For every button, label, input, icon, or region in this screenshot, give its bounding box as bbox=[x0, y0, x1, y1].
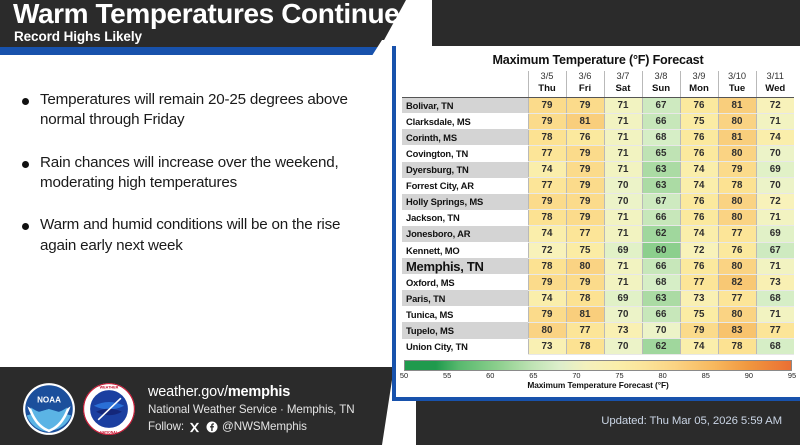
temp-cell: 70 bbox=[604, 178, 642, 194]
weather-graphic: Warm Temperatures Continue Record Highs … bbox=[0, 0, 800, 445]
column-day-4: Mon bbox=[680, 83, 718, 97]
city-label: Dyersburg, TN bbox=[402, 162, 528, 178]
temp-cell: 76 bbox=[718, 242, 756, 258]
updated-timestamp: Updated: Thu Mar 05, 2026 5:59 AM bbox=[601, 415, 782, 427]
column-date-2: 3/7 bbox=[604, 71, 642, 83]
temp-cell: 76 bbox=[680, 258, 718, 274]
temp-cell: 73 bbox=[680, 290, 718, 306]
svg-text:WEATHER: WEATHER bbox=[100, 385, 119, 389]
header-city-blank bbox=[402, 71, 528, 83]
column-day-3: Sun bbox=[642, 83, 680, 97]
temp-cell: 75 bbox=[680, 113, 718, 129]
temp-cell: 78 bbox=[566, 290, 604, 306]
temp-cell: 79 bbox=[718, 162, 756, 178]
temp-cell: 71 bbox=[604, 162, 642, 178]
temp-cell: 70 bbox=[756, 145, 794, 161]
table-header-days: ThuFriSatSunMonTueWed bbox=[402, 83, 794, 97]
temp-cell: 78 bbox=[718, 178, 756, 194]
table-row: Forrest City, AR77797063747870 bbox=[402, 178, 794, 194]
temp-cell: 74 bbox=[528, 162, 566, 178]
temp-cell: 76 bbox=[680, 194, 718, 210]
table-row: Tupelo, MS80777370798377 bbox=[402, 322, 794, 338]
bullet-text: Warm and humid conditions will be on the… bbox=[40, 215, 370, 256]
temp-cell: 72 bbox=[680, 242, 718, 258]
contact-block: weather.gov/memphis National Weather Ser… bbox=[148, 383, 354, 436]
website-url-office: memphis bbox=[228, 384, 290, 400]
temp-cell: 67 bbox=[642, 194, 680, 210]
temp-cell: 63 bbox=[642, 178, 680, 194]
temp-cell: 79 bbox=[566, 274, 604, 290]
table-row: Covington, TN77797165768070 bbox=[402, 145, 794, 161]
temp-cell: 72 bbox=[756, 194, 794, 210]
temp-cell: 71 bbox=[604, 145, 642, 161]
table-row: Clarksdale, MS79817166758071 bbox=[402, 113, 794, 129]
temp-cell: 79 bbox=[528, 97, 566, 113]
temp-cell: 80 bbox=[718, 306, 756, 322]
temp-cell: 70 bbox=[756, 178, 794, 194]
facebook-icon[interactable] bbox=[205, 421, 218, 434]
column-date-3: 3/8 bbox=[642, 71, 680, 83]
temp-cell: 73 bbox=[528, 339, 566, 355]
temp-cell: 75 bbox=[680, 306, 718, 322]
temp-cell: 77 bbox=[718, 226, 756, 242]
temp-cell: 77 bbox=[756, 322, 794, 338]
temp-cell: 76 bbox=[680, 210, 718, 226]
temp-cell: 66 bbox=[642, 210, 680, 226]
temp-cell: 70 bbox=[642, 322, 680, 338]
temp-cell: 62 bbox=[642, 339, 680, 355]
table-header-dates: 3/53/63/73/83/93/103/11 bbox=[402, 71, 794, 83]
header-city-blank2 bbox=[402, 83, 528, 97]
city-label: Jackson, TN bbox=[402, 210, 528, 226]
forecast-table: 3/53/63/73/83/93/103/11 ThuFriSatSunMonT… bbox=[402, 71, 794, 355]
list-item: Warm and humid conditions will be on the… bbox=[22, 215, 370, 256]
table-row: Kennett, MO72756960727667 bbox=[402, 242, 794, 258]
table-title: Maximum Temperature (°F) Forecast bbox=[402, 50, 794, 71]
temp-cell: 80 bbox=[718, 145, 756, 161]
colorbar-label: Maximum Temperature Forecast (°F) bbox=[404, 380, 792, 390]
page-title: Warm Temperatures Continue bbox=[13, 0, 399, 30]
city-label: Corinth, MS bbox=[402, 129, 528, 145]
temp-cell: 63 bbox=[642, 162, 680, 178]
temp-cell: 79 bbox=[566, 162, 604, 178]
temp-cell: 71 bbox=[604, 113, 642, 129]
temp-cell: 71 bbox=[756, 210, 794, 226]
temp-cell: 80 bbox=[718, 258, 756, 274]
bullet-dot-icon bbox=[22, 223, 29, 230]
column-day-6: Wed bbox=[756, 83, 794, 97]
city-label: Union City, TN bbox=[402, 339, 528, 355]
column-date-1: 3/6 bbox=[566, 71, 604, 83]
colorbar-tick: 65 bbox=[529, 371, 537, 380]
temp-cell: 80 bbox=[528, 322, 566, 338]
temp-cell: 67 bbox=[756, 242, 794, 258]
temp-cell: 71 bbox=[604, 97, 642, 113]
temp-cell: 81 bbox=[566, 306, 604, 322]
bullet-dot-icon bbox=[22, 98, 29, 105]
temp-cell: 72 bbox=[528, 242, 566, 258]
temp-cell: 78 bbox=[528, 129, 566, 145]
temp-cell: 76 bbox=[680, 97, 718, 113]
temp-cell: 74 bbox=[680, 162, 718, 178]
colorbar-tick: 55 bbox=[443, 371, 451, 380]
city-label: Tupelo, MS bbox=[402, 322, 528, 338]
bullet-text: Rain chances will increase over the week… bbox=[40, 153, 370, 194]
table-row: Dyersburg, TN74797163747969 bbox=[402, 162, 794, 178]
temp-cell: 74 bbox=[680, 339, 718, 355]
temp-cell: 71 bbox=[604, 129, 642, 145]
temp-cell: 66 bbox=[642, 113, 680, 129]
column-day-0: Thu bbox=[528, 83, 566, 97]
temp-cell: 79 bbox=[528, 306, 566, 322]
city-label: Jonesboro, AR bbox=[402, 226, 528, 242]
table-row: Memphis, TN78807166768071 bbox=[402, 258, 794, 274]
temp-cell: 76 bbox=[680, 145, 718, 161]
temp-cell: 78 bbox=[566, 339, 604, 355]
colorbar: 50556065707580859095 Maximum Temperature… bbox=[402, 355, 794, 390]
temp-cell: 71 bbox=[604, 274, 642, 290]
temp-cell: 68 bbox=[642, 129, 680, 145]
temp-cell: 68 bbox=[756, 290, 794, 306]
temp-cell: 76 bbox=[680, 129, 718, 145]
city-label: Tunica, MS bbox=[402, 306, 528, 322]
twitter-x-icon[interactable] bbox=[188, 421, 201, 434]
temp-cell: 60 bbox=[642, 242, 680, 258]
temp-cell: 80 bbox=[718, 210, 756, 226]
temp-cell: 79 bbox=[528, 194, 566, 210]
column-date-4: 3/9 bbox=[680, 71, 718, 83]
temp-cell: 75 bbox=[566, 242, 604, 258]
temp-cell: 74 bbox=[528, 226, 566, 242]
temp-cell: 74 bbox=[528, 290, 566, 306]
temp-cell: 82 bbox=[718, 274, 756, 290]
temp-cell: 79 bbox=[566, 194, 604, 210]
temp-cell: 71 bbox=[604, 210, 642, 226]
temp-cell: 68 bbox=[756, 339, 794, 355]
colorbar-tick: 70 bbox=[572, 371, 580, 380]
temp-cell: 79 bbox=[566, 145, 604, 161]
temp-cell: 69 bbox=[756, 226, 794, 242]
city-label: Oxford, MS bbox=[402, 274, 528, 290]
temp-cell: 71 bbox=[604, 226, 642, 242]
temp-cell: 70 bbox=[604, 339, 642, 355]
temp-cell: 69 bbox=[604, 290, 642, 306]
noaa-logo-icon: NOAA bbox=[22, 382, 76, 436]
colorbar-tick: 85 bbox=[702, 371, 710, 380]
list-item: Rain chances will increase over the week… bbox=[22, 153, 370, 194]
column-day-2: Sat bbox=[604, 83, 642, 97]
table-body: Bolivar, TN79797167768172Clarksdale, MS7… bbox=[402, 97, 794, 355]
colorbar-ticks: 50556065707580859095 bbox=[404, 371, 792, 381]
city-label: Bolivar, TN bbox=[402, 97, 528, 113]
temp-cell: 78 bbox=[718, 339, 756, 355]
temp-cell: 70 bbox=[604, 306, 642, 322]
temp-cell: 81 bbox=[566, 113, 604, 129]
temp-cell: 83 bbox=[718, 322, 756, 338]
city-label: Kennett, MO bbox=[402, 242, 528, 258]
city-label: Paris, TN bbox=[402, 290, 528, 306]
temp-cell: 79 bbox=[566, 210, 604, 226]
bullet-list: Temperatures will remain 20-25 degrees a… bbox=[0, 62, 386, 367]
city-label: Clarksdale, MS bbox=[402, 113, 528, 129]
temp-cell: 81 bbox=[718, 129, 756, 145]
table-row: Bolivar, TN79797167768172 bbox=[402, 97, 794, 113]
temp-cell: 79 bbox=[566, 97, 604, 113]
temp-cell: 66 bbox=[642, 306, 680, 322]
column-day-1: Fri bbox=[566, 83, 604, 97]
colorbar-tick: 95 bbox=[788, 371, 796, 380]
social-handle: @NWSMemphis bbox=[222, 418, 307, 435]
temp-cell: 77 bbox=[566, 322, 604, 338]
temp-cell: 71 bbox=[756, 113, 794, 129]
temp-cell: 73 bbox=[756, 274, 794, 290]
temp-cell: 65 bbox=[642, 145, 680, 161]
temp-cell: 74 bbox=[680, 178, 718, 194]
city-label: Memphis, TN bbox=[402, 258, 528, 274]
temp-cell: 66 bbox=[642, 258, 680, 274]
table-row: Jackson, TN78797166768071 bbox=[402, 210, 794, 226]
temp-cell: 79 bbox=[680, 322, 718, 338]
colorbar-tick: 75 bbox=[615, 371, 623, 380]
temp-cell: 81 bbox=[718, 97, 756, 113]
temp-cell: 74 bbox=[680, 226, 718, 242]
website-url-base: weather.gov/ bbox=[148, 384, 228, 400]
page-subtitle: Record Highs Likely bbox=[14, 29, 142, 44]
column-date-6: 3/11 bbox=[756, 71, 794, 83]
temp-cell: 77 bbox=[718, 290, 756, 306]
temp-cell: 63 bbox=[642, 290, 680, 306]
temp-cell: 71 bbox=[604, 258, 642, 274]
table-row: Union City, TN73787062747868 bbox=[402, 339, 794, 355]
temp-cell: 80 bbox=[566, 258, 604, 274]
list-item: Temperatures will remain 20-25 degrees a… bbox=[22, 90, 370, 131]
bullet-text: Temperatures will remain 20-25 degrees a… bbox=[40, 90, 370, 131]
city-label: Forrest City, AR bbox=[402, 178, 528, 194]
follow-row: Follow: @NWSMemphis bbox=[148, 418, 354, 435]
bullet-dot-icon bbox=[22, 161, 29, 168]
temp-cell: 79 bbox=[528, 274, 566, 290]
temp-cell: 62 bbox=[642, 226, 680, 242]
temp-cell: 77 bbox=[680, 274, 718, 290]
table-row: Jonesboro, AR74777162747769 bbox=[402, 226, 794, 242]
column-day-5: Tue bbox=[718, 83, 756, 97]
temp-cell: 80 bbox=[718, 194, 756, 210]
nws-logo-icon: WEATHER NATIONAL bbox=[82, 382, 136, 436]
column-date-0: 3/5 bbox=[528, 71, 566, 83]
city-label: Holly Springs, MS bbox=[402, 194, 528, 210]
temp-cell: 78 bbox=[528, 210, 566, 226]
table-row: Paris, TN74786963737768 bbox=[402, 290, 794, 306]
temp-cell: 68 bbox=[642, 274, 680, 290]
temp-cell: 78 bbox=[528, 258, 566, 274]
temp-cell: 71 bbox=[756, 258, 794, 274]
temp-cell: 74 bbox=[756, 129, 794, 145]
temp-cell: 79 bbox=[566, 178, 604, 194]
temp-cell: 73 bbox=[604, 322, 642, 338]
table-row: Tunica, MS79817066758071 bbox=[402, 306, 794, 322]
table-row: Holly Springs, MS79797067768072 bbox=[402, 194, 794, 210]
temp-cell: 69 bbox=[756, 162, 794, 178]
temp-cell: 71 bbox=[756, 306, 794, 322]
temp-cell: 72 bbox=[756, 97, 794, 113]
svg-text:NATIONAL: NATIONAL bbox=[100, 430, 119, 434]
column-date-5: 3/10 bbox=[718, 71, 756, 83]
colorbar-tick: 90 bbox=[745, 371, 753, 380]
website-url: weather.gov/memphis bbox=[148, 383, 354, 402]
temp-cell: 76 bbox=[566, 129, 604, 145]
office-name: National Weather Service · Memphis, TN bbox=[148, 402, 354, 419]
svg-text:NOAA: NOAA bbox=[37, 396, 61, 405]
temp-cell: 77 bbox=[528, 145, 566, 161]
colorbar-tick: 80 bbox=[659, 371, 667, 380]
temp-cell: 67 bbox=[642, 97, 680, 113]
colorbar-tick: 50 bbox=[400, 371, 408, 380]
temp-cell: 77 bbox=[528, 178, 566, 194]
table-row: Corinth, MS78767168768174 bbox=[402, 129, 794, 145]
colorbar-tick: 60 bbox=[486, 371, 494, 380]
temp-cell: 69 bbox=[604, 242, 642, 258]
temp-cell: 77 bbox=[566, 226, 604, 242]
city-label: Covington, TN bbox=[402, 145, 528, 161]
temp-cell: 79 bbox=[528, 113, 566, 129]
temp-cell: 70 bbox=[604, 194, 642, 210]
table-row: Oxford, MS79797168778273 bbox=[402, 274, 794, 290]
forecast-panel: Maximum Temperature (°F) Forecast 3/53/6… bbox=[392, 46, 800, 401]
temp-cell: 80 bbox=[718, 113, 756, 129]
follow-label: Follow: bbox=[148, 418, 184, 435]
colorbar-gradient bbox=[404, 360, 792, 371]
